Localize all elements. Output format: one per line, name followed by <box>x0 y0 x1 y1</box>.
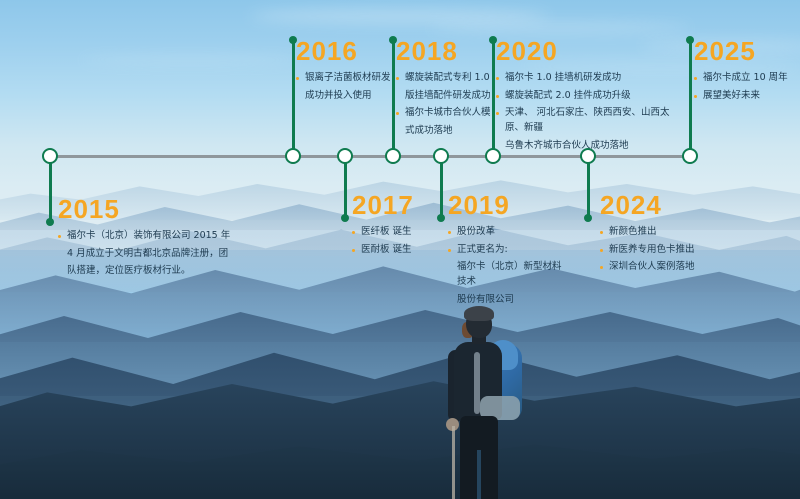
milestone-card-2020[interactable]: 2020 福尔卡 1.0 挂墙机研发成功 螺旋装配式 2.0 挂件成功升级 天津… <box>496 38 676 157</box>
node-dot[interactable] <box>433 148 449 164</box>
node-dot[interactable] <box>385 148 401 164</box>
list-item: 新医养专用色卡推出 <box>600 243 726 258</box>
node-endpoint <box>686 36 694 44</box>
list-item: 深圳合伙人案例落地 <box>600 260 726 275</box>
list-item: 福尔卡 1.0 挂墙机研发成功 <box>496 71 676 86</box>
node-stem <box>689 40 692 152</box>
cloud-streak <box>80 55 300 65</box>
hiker-leg-gap <box>477 450 481 499</box>
milestone-card-2015[interactable]: 2015 福尔卡（北京）装饰有限公司 2015 年 4 月成立于文明古都北京品牌… <box>58 196 258 282</box>
milestone-card-2018[interactable]: 2018 螺旋装配式专利 1.0 版挂墙配件研发成功 福尔卡城市合伙人模 式成功… <box>396 38 496 142</box>
list-item: 螺旋装配式专利 1.0 <box>396 71 496 86</box>
node-dot[interactable] <box>285 148 301 164</box>
list-item: 队搭建，定位医疗板材行业。 <box>58 264 258 279</box>
milestone-year-2025: 2025 <box>694 38 798 64</box>
list-item: 银离子洁菌板材研发 <box>296 71 392 86</box>
list-item: 成功并投入使用 <box>296 89 392 104</box>
milestone-items-2024: 新颜色推出 新医养专用色卡推出 深圳合伙人案例落地 <box>600 225 726 275</box>
milestone-year-2016: 2016 <box>296 38 392 64</box>
trekking-pole <box>452 426 455 499</box>
list-item: 正式更名为: <box>448 243 564 258</box>
list-item: 天津、 河北石家庄、陕西西安、山西太原、新疆 <box>496 106 676 135</box>
milestone-items-2017: 医纤板 诞生 医耐板 诞生 <box>352 225 432 257</box>
node-stem <box>344 162 347 218</box>
milestone-year-2024: 2024 <box>600 192 726 218</box>
node-endpoint <box>46 218 54 226</box>
list-item: 展望美好未来 <box>694 89 798 104</box>
list-item: 版挂墙配件研发成功 <box>396 89 496 104</box>
milestone-items-2018: 螺旋装配式专利 1.0 版挂墙配件研发成功 福尔卡城市合伙人模 式成功落地 <box>396 71 496 139</box>
milestone-year-2018: 2018 <box>396 38 496 64</box>
node-dot[interactable] <box>682 148 698 164</box>
milestone-items-2015: 福尔卡（北京）装饰有限公司 2015 年 4 月成立于文明古都北京品牌注册，团 … <box>58 229 258 279</box>
list-item: 福尔卡（北京）装饰有限公司 2015 年 <box>58 229 258 244</box>
node-stem <box>49 162 52 222</box>
milestone-card-2016[interactable]: 2016 银离子洁菌板材研发 成功并投入使用 <box>296 38 392 106</box>
node-stem <box>587 162 590 218</box>
list-item: 螺旋装配式 2.0 挂件成功升级 <box>496 89 676 104</box>
node-stem <box>292 40 295 152</box>
milestone-items-2020: 福尔卡 1.0 挂墙机研发成功 螺旋装配式 2.0 挂件成功升级 天津、 河北石… <box>496 71 676 154</box>
list-item: 4 月成立于文明古都北京品牌注册，团 <box>58 247 258 262</box>
list-item: 股份有限公司 <box>448 293 564 308</box>
timeline-infographic: 2015 福尔卡（北京）装饰有限公司 2015 年 4 月成立于文明古都北京品牌… <box>0 0 800 499</box>
list-item: 医纤板 诞生 <box>352 225 432 240</box>
milestone-items-2016: 银离子洁菌板材研发 成功并投入使用 <box>296 71 392 103</box>
hiker-figure <box>430 300 550 499</box>
milestone-year-2019: 2019 <box>448 192 564 218</box>
milestone-card-2024[interactable]: 2024 新颜色推出 新医养专用色卡推出 深圳合伙人案例落地 <box>600 192 726 278</box>
list-item: 乌鲁木齐城市合伙人成功落地 <box>496 139 676 154</box>
node-stem <box>440 162 443 218</box>
node-endpoint <box>437 214 445 222</box>
milestone-year-2017: 2017 <box>352 192 432 218</box>
cloud-streak <box>430 22 690 33</box>
milestone-year-2015: 2015 <box>58 196 258 222</box>
list-item: 福尔卡成立 10 周年 <box>694 71 798 86</box>
list-item: 福尔卡城市合伙人模 <box>396 106 496 121</box>
node-endpoint <box>341 214 349 222</box>
node-endpoint <box>584 214 592 222</box>
node-dot[interactable] <box>337 148 353 164</box>
milestone-items-2025: 福尔卡成立 10 周年 展望美好未来 <box>694 71 798 103</box>
node-dot[interactable] <box>42 148 58 164</box>
milestone-card-2017[interactable]: 2017 医纤板 诞生 医耐板 诞生 <box>352 192 432 260</box>
list-item: 新颜色推出 <box>600 225 726 240</box>
milestone-card-2019[interactable]: 2019 股份改革 正式更名为: 福尔卡（北京）新型材料技术 股份有限公司 <box>448 192 564 311</box>
milestone-year-2020: 2020 <box>496 38 676 64</box>
list-item: 股份改革 <box>448 225 564 240</box>
list-item: 医耐板 诞生 <box>352 243 432 258</box>
list-item: 福尔卡（北京）新型材料技术 <box>448 260 564 289</box>
milestone-items-2019: 股份改革 正式更名为: 福尔卡（北京）新型材料技术 股份有限公司 <box>448 225 564 308</box>
list-item: 式成功落地 <box>396 124 496 139</box>
milestone-card-2025[interactable]: 2025 福尔卡成立 10 周年 展望美好未来 <box>694 38 798 106</box>
